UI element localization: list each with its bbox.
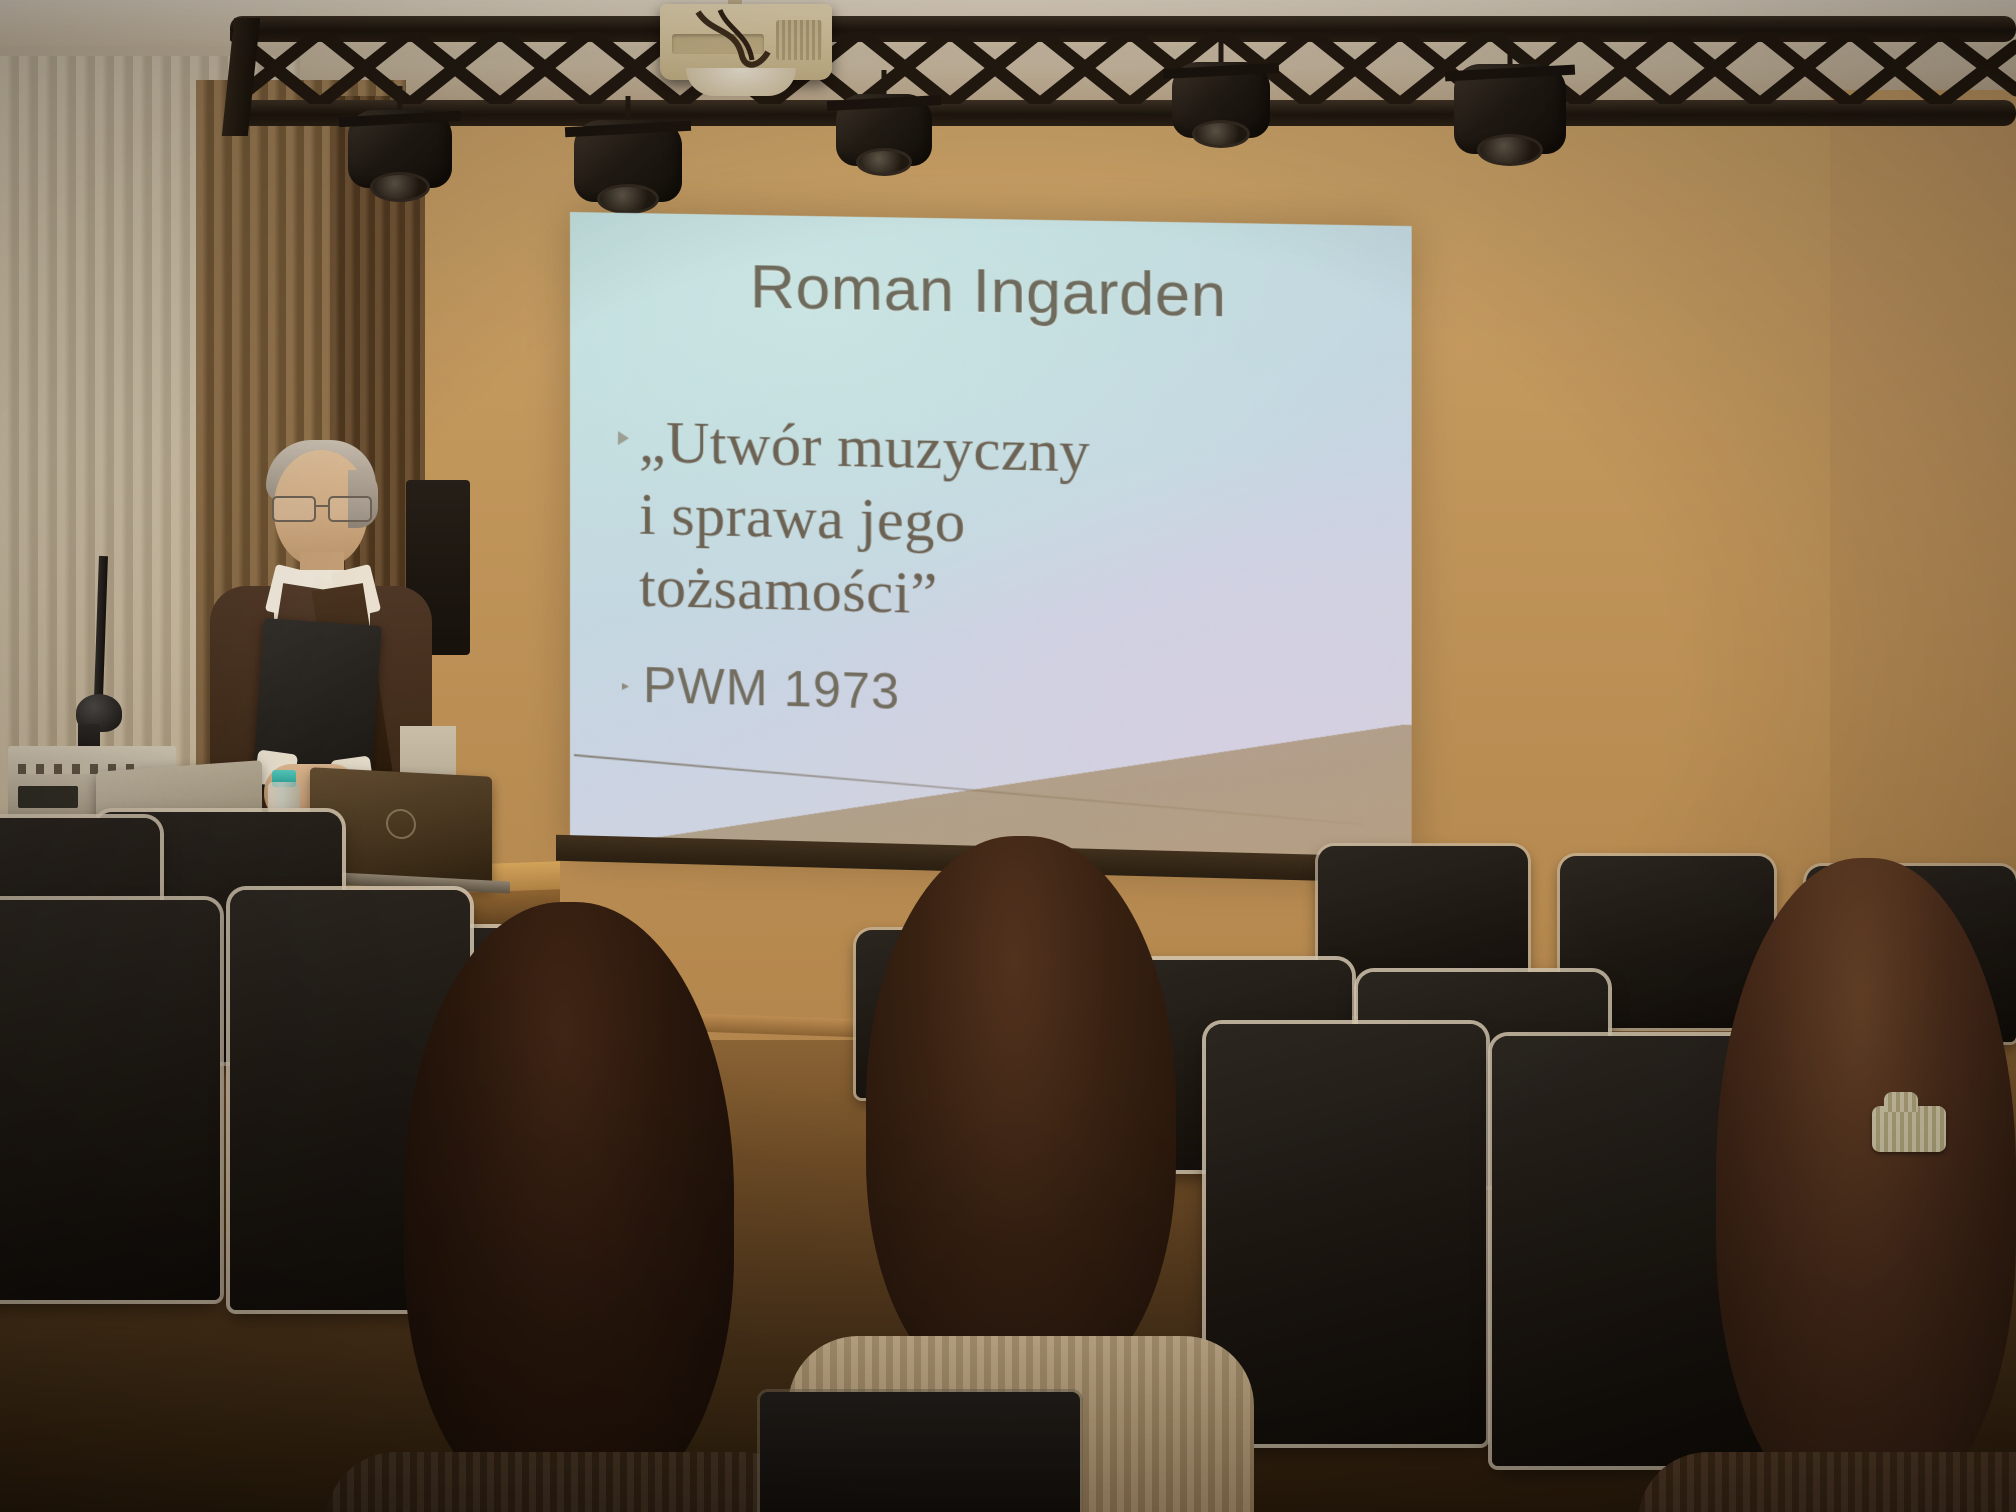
lighting-truss [230, 2, 2016, 132]
truss-cross-bracing [230, 32, 2016, 104]
small-triangle-bullet-icon [622, 683, 629, 690]
slide-title: Roman Ingarden [570, 248, 1412, 335]
slide-quote-line-3: tożsamości” [639, 550, 1090, 634]
slide-body: „Utwór muzyczny i sprawa jego tożsamości… [618, 405, 1370, 734]
audience-member-left [404, 902, 734, 1512]
stage-light-3 [836, 70, 932, 170]
glasses-left-lens [272, 496, 316, 522]
hair-clip-icon [1872, 1106, 1946, 1152]
slide-quote-bullet-row: „Utwór muzyczny i sprawa jego tożsamości… [618, 405, 1370, 640]
slide-quote-line-2: i sprawa jego [639, 478, 1090, 561]
projection-screen: Roman Ingarden „Utwór muzyczny i sprawa … [570, 212, 1412, 878]
audience-hair [404, 902, 734, 1512]
projector-lens [686, 68, 796, 96]
audience-hair [1716, 858, 2016, 1512]
audience-hair [866, 836, 1176, 1396]
audience-clothing [1638, 1452, 2016, 1512]
console-display [18, 786, 78, 808]
slide-quote: „Utwór muzyczny i sprawa jego tożsamości… [639, 405, 1090, 633]
foreground-laptop[interactable] [760, 1392, 1080, 1512]
triangle-bullet-icon [618, 431, 629, 445]
slide-quote-line-1: „Utwór muzyczny [639, 405, 1090, 487]
stage-light-lens [1477, 134, 1543, 166]
glasses-icon [272, 496, 372, 518]
chair-row-front-2[interactable] [0, 900, 220, 1300]
stage-light-lens [856, 148, 912, 176]
stage-light-1 [348, 86, 452, 196]
audience-member-center [866, 836, 1176, 1396]
projector-cable-icon [690, 8, 810, 70]
stage-light-4 [1172, 38, 1270, 142]
audience-clothing [326, 1452, 812, 1512]
audience-member-right [1716, 858, 2016, 1512]
stage-light-5 [1454, 40, 1566, 160]
hp-logo-icon [386, 808, 416, 840]
stage-light-lens [1192, 120, 1250, 148]
stage-light-lens [597, 184, 659, 214]
stage-light-2 [574, 96, 682, 208]
glasses-right-lens [328, 496, 372, 522]
lecture-hall-photo: Roman Ingarden „Utwór muzyczny i sprawa … [0, 0, 2016, 1512]
stage-light-lens [370, 172, 430, 202]
